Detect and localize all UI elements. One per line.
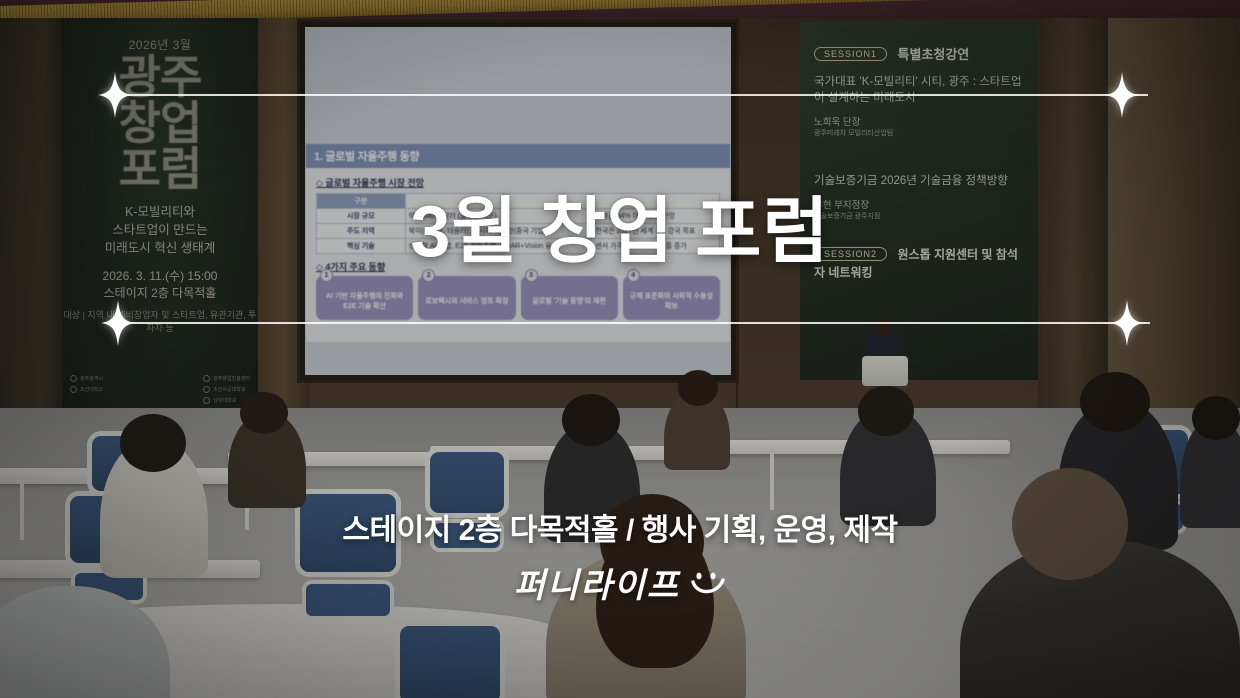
podium	[862, 356, 908, 386]
trend-card-text: 규제 표준화와 사회적 수용성 확보	[626, 292, 717, 310]
page-title: 3월 창업 포럼	[0, 172, 1240, 277]
logo-mark-icon	[203, 397, 210, 404]
logo-mark-icon	[203, 375, 210, 382]
decorative-rule-bottom-left	[130, 322, 1150, 324]
sponsor-logo-item: 조선이공대학교	[203, 386, 250, 393]
attendee-head	[858, 386, 914, 436]
talk1-title: 국가대표 'K-모빌리티' 시티, 광주 : 스타트업이 설계하는 미래도시	[814, 74, 1024, 106]
trend-card-text: 글로벌 '기술 동맹'의 재편	[532, 297, 606, 306]
four-point-sparkle-icon	[101, 300, 135, 346]
sponsor-logo-item: 광주광역시	[70, 375, 103, 382]
session1-badge: SESSION1	[814, 47, 887, 61]
poster-venue: 스테이지 2층 다목적홀	[62, 285, 258, 302]
session1-title: 특별초청강연	[897, 47, 969, 62]
attendee-head	[562, 394, 620, 446]
sponsor-logo-item: 광주창업진흥센터	[203, 375, 250, 382]
poster-title-line-2: 창업	[62, 101, 258, 145]
decorative-rule-top-left	[128, 94, 1148, 96]
logo-mark-icon	[70, 375, 77, 382]
trend-card-text: AI 기반 자율주행의 진화와 E2E 기술 확산	[319, 292, 410, 310]
speaker-head	[874, 318, 892, 338]
trend-card: 1 AI 기반 자율주행의 진화와 E2E 기술 확산	[316, 276, 413, 320]
poster-title-line-1: 광주	[62, 55, 258, 99]
slide-header: 1. 글로벌 자율주행 동향	[306, 144, 730, 168]
table-leg	[770, 452, 774, 510]
logo-mark-icon	[70, 386, 77, 393]
four-point-sparkle-icon	[1110, 300, 1144, 346]
attendee-head	[120, 414, 186, 472]
talk1-speaker: 노희욱 단장	[814, 114, 1024, 128]
trend-card: 2 로보택시의 서비스 영토 확장	[418, 276, 515, 320]
attendee-head	[1192, 396, 1240, 440]
chair	[400, 626, 500, 698]
four-point-sparkle-icon	[98, 72, 132, 118]
smiley-face-icon	[688, 568, 726, 598]
trend-card: 3 글로벌 '기술 동맹'의 재편	[521, 276, 618, 320]
slide-trend-cards: 1 AI 기반 자율주행의 진화와 E2E 기술 확산 2 로보택시의 서비스 …	[316, 276, 720, 320]
talk1-org: 광주미래차 모빌리티산업팀	[814, 128, 1024, 138]
four-point-sparkle-icon	[1105, 72, 1139, 118]
sponsor-logo-item: 조선대학교	[70, 386, 103, 393]
audience-area	[0, 408, 1240, 698]
event-subtitle: 스테이지 2층 다목적홀 / 행사 기획, 운영, 제작	[0, 505, 1240, 549]
attendee-head	[240, 392, 288, 434]
poster-sponsor-logos: 광주광역시 조선대학교 광주창업진흥센터 조선이공대학교 남부대학교	[70, 375, 250, 404]
brand-logo: 퍼니라이프	[0, 558, 1240, 607]
session1-row: SESSION1 특별초청강연	[814, 44, 1024, 63]
trend-card-text: 로보택시의 서비스 영토 확장	[425, 297, 508, 306]
brand-name: 퍼니라이프	[514, 558, 680, 607]
event-recap-image: 2026년 3월 광주 창업 포럼 K-모빌리티와 스타트업이 만드는 미래도시…	[0, 0, 1240, 698]
trend-card: 4 규제 표준화와 사회적 수용성 확보	[623, 276, 720, 320]
attendee-head	[678, 370, 718, 406]
attendee-head	[1080, 372, 1150, 432]
logo-mark-icon	[203, 386, 210, 393]
